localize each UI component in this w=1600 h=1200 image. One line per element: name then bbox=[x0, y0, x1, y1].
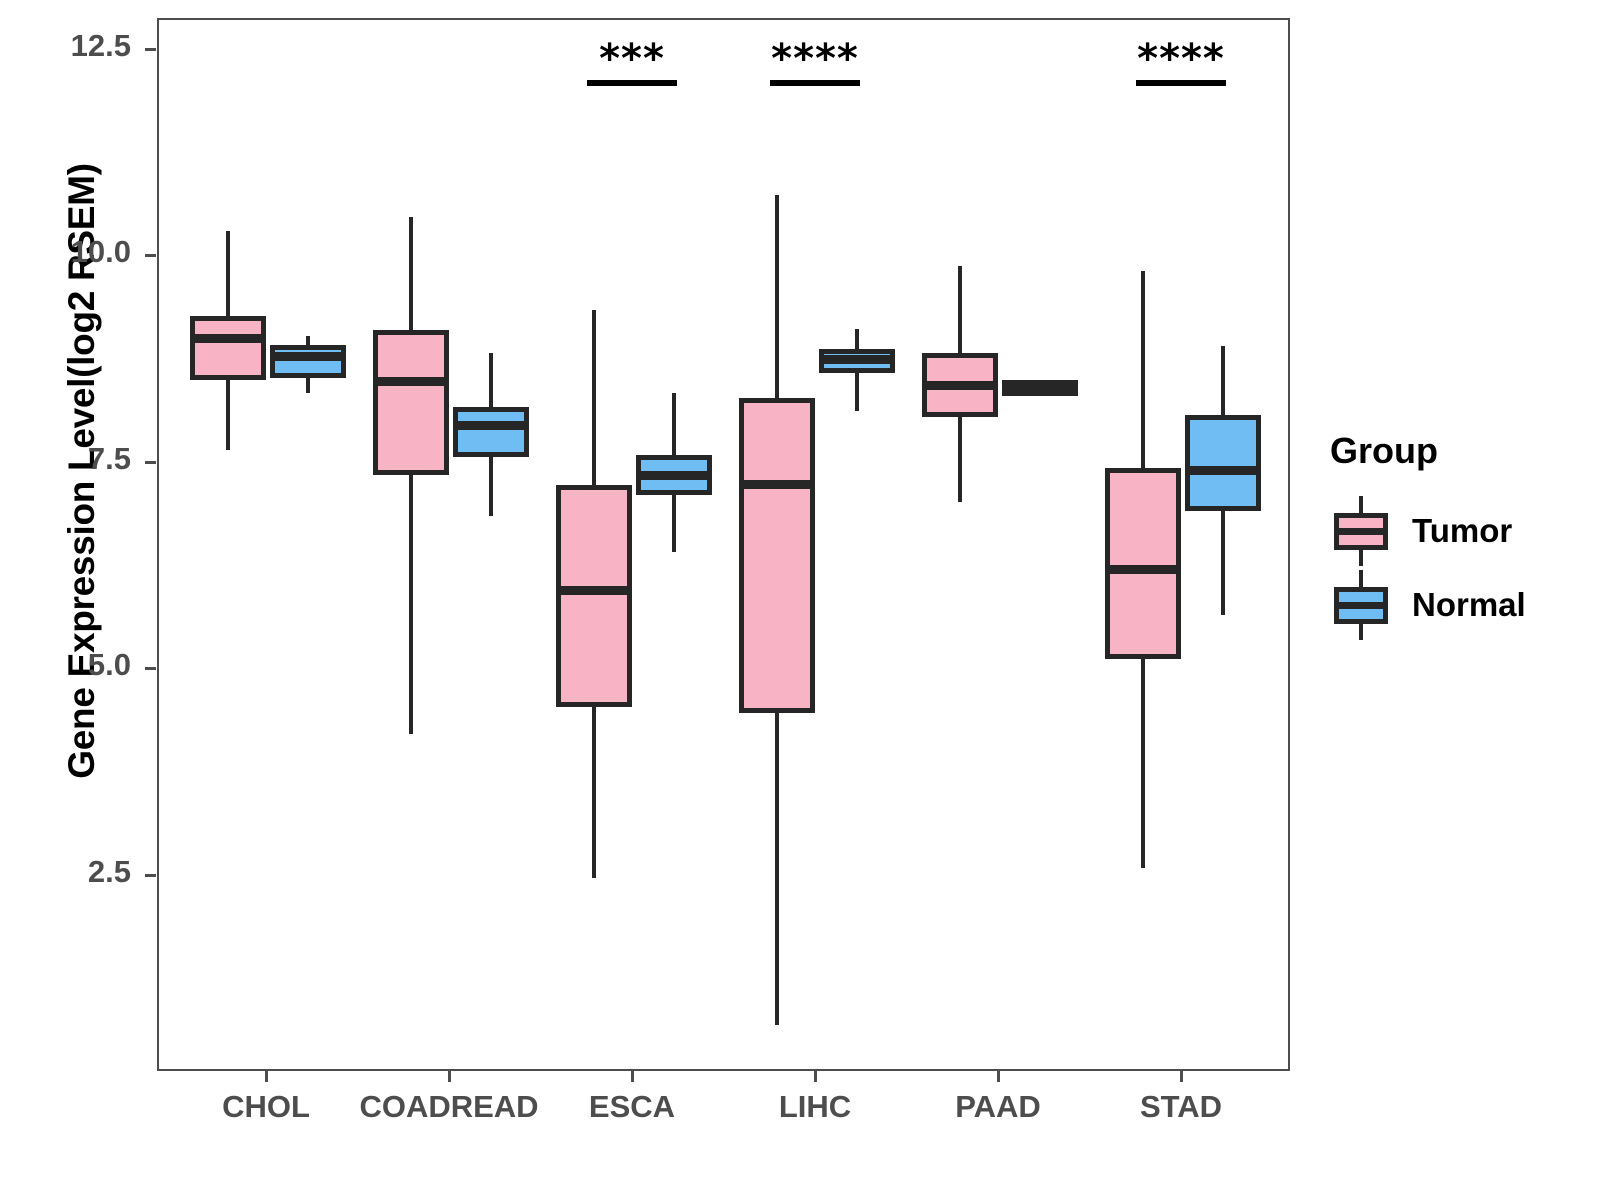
x-tick-label-chol: CHOL bbox=[222, 1089, 310, 1125]
legend-key-swatch bbox=[1330, 496, 1392, 566]
x-tick-mark bbox=[448, 1071, 451, 1082]
y-tick-label: 12.5 bbox=[0, 28, 131, 64]
x-tick-label-lihc: LIHC bbox=[779, 1089, 851, 1125]
y-tick-mark bbox=[145, 48, 156, 51]
legend-label: Tumor bbox=[1412, 512, 1512, 550]
y-tick-mark bbox=[145, 667, 156, 670]
y-tick-mark bbox=[145, 874, 156, 877]
legend-item-normal[interactable]: Normal bbox=[1330, 568, 1590, 642]
x-tick-mark bbox=[265, 1071, 268, 1082]
legend-title: Group bbox=[1330, 430, 1590, 472]
box bbox=[1185, 415, 1261, 512]
significance-stars-lihc: **** bbox=[771, 36, 859, 82]
x-tick-label-esca: ESCA bbox=[589, 1089, 675, 1125]
x-tick-label-coadread: COADREAD bbox=[359, 1089, 538, 1125]
legend: Group TumorNormal bbox=[1330, 430, 1590, 642]
median-line bbox=[1185, 466, 1261, 475]
legend-key-median bbox=[1334, 528, 1388, 535]
y-tick-mark bbox=[145, 254, 156, 257]
x-tick-mark bbox=[1180, 1071, 1183, 1082]
legend-key-swatch bbox=[1330, 570, 1392, 640]
y-tick-label: 5.0 bbox=[0, 647, 131, 683]
legend-key-median bbox=[1334, 602, 1388, 609]
x-tick-mark bbox=[997, 1071, 1000, 1082]
whisker-lower bbox=[1221, 511, 1225, 615]
y-tick-label: 10.0 bbox=[0, 234, 131, 270]
x-tick-label-paad: PAAD bbox=[955, 1089, 1041, 1125]
x-tick-mark bbox=[631, 1071, 634, 1082]
legend-label: Normal bbox=[1412, 586, 1526, 624]
x-tick-label-stad: STAD bbox=[1140, 1089, 1222, 1125]
chart-root: Gene Expression Level(log2 RSEM) 2.55.07… bbox=[0, 0, 1600, 1200]
x-tick-mark bbox=[814, 1071, 817, 1082]
significance-stars-stad: **** bbox=[1137, 36, 1225, 82]
significance-stars-esca: *** bbox=[599, 36, 665, 82]
legend-item-tumor[interactable]: Tumor bbox=[1330, 494, 1590, 568]
whisker-upper bbox=[1221, 346, 1225, 415]
y-tick-label: 7.5 bbox=[0, 441, 131, 477]
y-tick-label: 2.5 bbox=[0, 854, 131, 890]
legend-entries: TumorNormal bbox=[1330, 494, 1590, 642]
plot-panel bbox=[157, 18, 1290, 1071]
boxplot-stad-normal bbox=[159, 20, 1288, 1069]
y-tick-mark bbox=[145, 461, 156, 464]
